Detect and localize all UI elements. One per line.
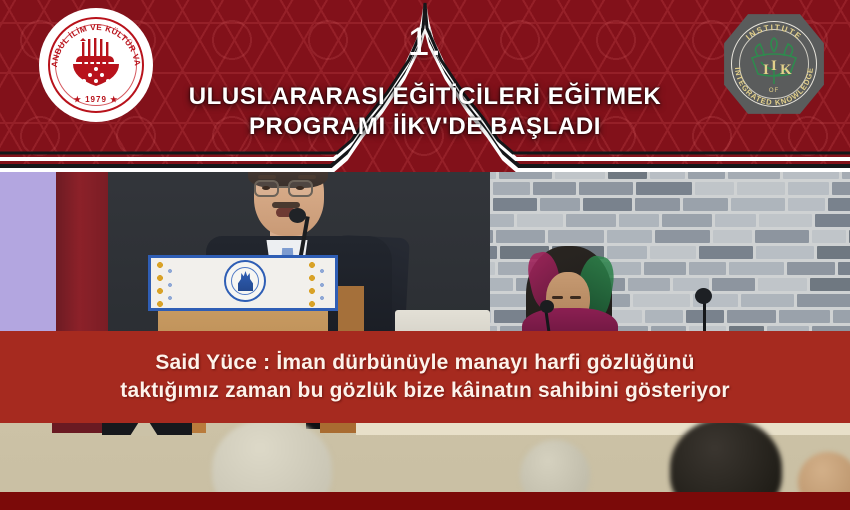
brick: [548, 230, 604, 243]
brick: [635, 198, 680, 211]
brick: [838, 262, 850, 275]
brick: [759, 214, 812, 227]
news-banner-image: 1. ULUSLARARASI EĞİTİCİLERİ EĞİTMEK PROG…: [0, 0, 850, 510]
brick: [788, 182, 829, 195]
brick: [633, 294, 690, 307]
brick: [787, 262, 835, 275]
brick: [832, 182, 850, 195]
microphone-icon: [289, 208, 306, 223]
brick: [672, 150, 707, 163]
podium-ornament-left: [154, 258, 180, 308]
brick: [699, 246, 753, 259]
brick: [712, 278, 755, 291]
brick: [713, 230, 752, 243]
brick-row: [490, 198, 850, 215]
brick: [508, 150, 556, 163]
brick: [812, 230, 846, 243]
speaker-eye: [296, 186, 304, 190]
caption-line-1: Said Yüce : İman dürbünüyle manayı harfi…: [155, 351, 694, 375]
brick: [689, 262, 726, 275]
ceiling-lamp-icon: [340, 33, 398, 49]
brick-row: [490, 150, 850, 167]
brick: [729, 262, 784, 275]
brick: [613, 150, 669, 163]
brick-row: [490, 182, 850, 199]
brick: [715, 214, 756, 227]
brick: [755, 230, 809, 243]
brick: [650, 166, 685, 179]
brick: [496, 230, 545, 243]
brick-row: [490, 230, 850, 247]
brick: [490, 310, 491, 323]
brick: [842, 166, 850, 179]
brick: [490, 230, 493, 243]
speaker-eyebrow: [258, 175, 276, 179]
brick: [814, 150, 850, 163]
brick: [833, 310, 850, 323]
brick: [493, 182, 530, 195]
brick: [815, 214, 850, 227]
speaker-eyebrow: [298, 175, 316, 179]
brick: [710, 150, 749, 163]
brick: [493, 198, 537, 211]
footer-bar: [0, 492, 850, 510]
brick: [797, 294, 850, 307]
brick: [559, 150, 610, 163]
event-photograph: [0, 0, 850, 510]
brick: [728, 166, 780, 179]
brick: [783, 166, 839, 179]
brick: [655, 230, 710, 243]
brick: [583, 198, 632, 211]
brick: [727, 310, 776, 323]
microphone-icon: [695, 288, 712, 304]
quote-caption-band: Said Yüce : İman dürbünüyle manayı harfi…: [0, 331, 850, 423]
brick: [490, 262, 495, 275]
brick: [828, 198, 850, 211]
brick-row: [490, 166, 850, 183]
brick: [645, 310, 683, 323]
brick: [731, 198, 785, 211]
brick: [810, 278, 850, 291]
microphone-icon: [540, 300, 554, 313]
brick: [555, 166, 605, 179]
brick: [741, 294, 794, 307]
brick: [517, 214, 563, 227]
ceiling: [0, 0, 850, 175]
ceiling-molding: [300, 66, 720, 73]
brick: [608, 166, 647, 179]
ceiling-speaker-box: [600, 70, 630, 83]
brick: [636, 182, 692, 195]
brick: [662, 214, 712, 227]
panelist-eye: [552, 296, 563, 299]
brick: [499, 166, 552, 179]
eyeglasses-bridge: [279, 186, 288, 188]
brick: [683, 198, 728, 211]
brick: [752, 150, 811, 163]
brick: [688, 166, 725, 179]
speaker-eye: [262, 186, 270, 190]
panelist-eye: [570, 296, 581, 299]
brick: [779, 310, 830, 323]
brick: [579, 182, 633, 195]
brick: [490, 246, 497, 259]
brick: [817, 246, 850, 259]
brick: [533, 182, 576, 195]
brick: [788, 198, 825, 211]
brick: [566, 214, 616, 227]
brick: [490, 214, 514, 227]
brick: [737, 182, 785, 195]
brick-row: [490, 214, 850, 231]
brick: [644, 262, 686, 275]
caption-line-2: taktığımız zaman bu gözlük bize kâinatın…: [120, 379, 729, 403]
brick: [490, 150, 505, 163]
brick: [619, 214, 659, 227]
brick: [540, 198, 580, 211]
ceiling-projector: [466, 72, 492, 85]
brick: [695, 182, 734, 195]
brick: [607, 230, 652, 243]
brick: [490, 166, 496, 179]
brick: [490, 278, 513, 291]
ceiling-light-strip: [250, 48, 680, 60]
brick: [650, 246, 696, 259]
podium-ornament-right: [306, 258, 332, 308]
brick: [758, 278, 807, 291]
brick: [756, 246, 814, 259]
